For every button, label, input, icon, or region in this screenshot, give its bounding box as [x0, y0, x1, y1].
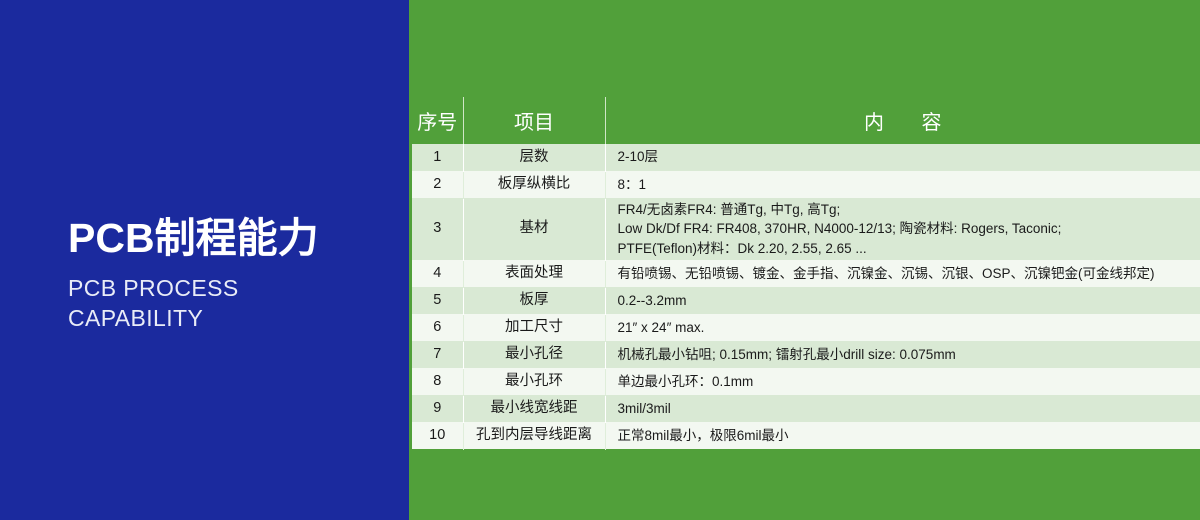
- cell-no: 1: [412, 144, 463, 171]
- cell-content: 21″ x 24″ max.: [605, 314, 1200, 341]
- cell-no: 5: [412, 287, 463, 314]
- title-block: PCB制程能力 PCB PROCESS CAPABILITY: [68, 216, 398, 333]
- left-blue-panel: PCB制程能力 PCB PROCESS CAPABILITY: [0, 0, 409, 520]
- table-header: 序号 项目 内 容: [412, 97, 1200, 144]
- table-row: 3基材FR4/无卤素FR4: 普通Tg, 中Tg, 高Tg; Low Dk/Df…: [412, 198, 1200, 260]
- pcb-capability-table: 序号 项目 内 容 1层数2-10层2板厚纵横比8：13基材FR4/无卤素FR4…: [412, 97, 1200, 450]
- slide-root: PCB制程能力 PCB PROCESS CAPABILITY 序号 项目: [0, 0, 1200, 520]
- cell-item: 最小孔径: [463, 341, 605, 368]
- table-row: 2板厚纵横比8：1: [412, 171, 1200, 198]
- column-header-no-label: 序号: [417, 106, 457, 135]
- cell-item: 板厚: [463, 287, 605, 314]
- cell-no: 8: [412, 368, 463, 395]
- page-title-en: PCB PROCESS CAPABILITY: [68, 274, 398, 333]
- column-header-content: 内 容: [605, 97, 1200, 144]
- table-row: 5板厚0.2--3.2mm: [412, 287, 1200, 314]
- table-row: 4表面处理有铅喷锡、无铅喷锡、镀金、金手指、沉镍金、沉锡、沉银、OSP、沉镍钯金…: [412, 260, 1200, 287]
- cell-item: 最小孔环: [463, 368, 605, 395]
- cell-content: 机械孔最小钻咀; 0.15mm; 镭射孔最小drill size: 0.075m…: [605, 341, 1200, 368]
- cell-content: 单边最小孔环：0.1mm: [605, 368, 1200, 395]
- cell-content: FR4/无卤素FR4: 普通Tg, 中Tg, 高Tg; Low Dk/Df FR…: [605, 198, 1200, 260]
- cell-content: 3mil/3mil: [605, 395, 1200, 422]
- table-row: 9最小线宽线距3mil/3mil: [412, 395, 1200, 422]
- table-row: 7最小孔径机械孔最小钻咀; 0.15mm; 镭射孔最小drill size: 0…: [412, 341, 1200, 368]
- cell-no: 2: [412, 171, 463, 198]
- cell-content: 2-10层: [605, 144, 1200, 171]
- cell-content: 有铅喷锡、无铅喷锡、镀金、金手指、沉镍金、沉锡、沉银、OSP、沉镍钯金(可金线邦…: [605, 260, 1200, 287]
- cell-item: 层数: [463, 144, 605, 171]
- cell-item: 基材: [463, 198, 605, 260]
- table-row: 6加工尺寸21″ x 24″ max.: [412, 314, 1200, 341]
- cell-no: 10: [412, 422, 463, 449]
- cell-item: 孔到内层导线距离: [463, 422, 605, 449]
- table-body: 1层数2-10层2板厚纵横比8：13基材FR4/无卤素FR4: 普通Tg, 中T…: [412, 144, 1200, 449]
- capability-table-wrapper: 序号 项目 内 容 1层数2-10层2板厚纵横比8：13基材FR4/无卤素FR4…: [412, 97, 1200, 446]
- table-row: 10孔到内层导线距离正常8mil最小，极限6mil最小: [412, 422, 1200, 449]
- table-row: 8最小孔环单边最小孔环：0.1mm: [412, 368, 1200, 395]
- cell-content: 正常8mil最小，极限6mil最小: [605, 422, 1200, 449]
- table-row: 1层数2-10层: [412, 144, 1200, 171]
- column-header-content-label: 内 容: [848, 106, 958, 135]
- cell-item: 板厚纵横比: [463, 171, 605, 198]
- column-header-item-label: 项目: [514, 106, 554, 135]
- cell-item: 最小线宽线距: [463, 395, 605, 422]
- cell-no: 9: [412, 395, 463, 422]
- cell-no: 4: [412, 260, 463, 287]
- cell-content: 0.2--3.2mm: [605, 287, 1200, 314]
- column-header-item: 项目: [463, 97, 605, 144]
- column-header-no: 序号: [412, 97, 463, 144]
- page-title-zh: PCB制程能力: [68, 216, 398, 260]
- cell-item: 加工尺寸: [463, 314, 605, 341]
- cell-no: 3: [412, 198, 463, 260]
- cell-no: 6: [412, 314, 463, 341]
- cell-item: 表面处理: [463, 260, 605, 287]
- cell-no: 7: [412, 341, 463, 368]
- cell-content: 8：1: [605, 171, 1200, 198]
- table-header-row: 序号 项目 内 容: [412, 97, 1200, 144]
